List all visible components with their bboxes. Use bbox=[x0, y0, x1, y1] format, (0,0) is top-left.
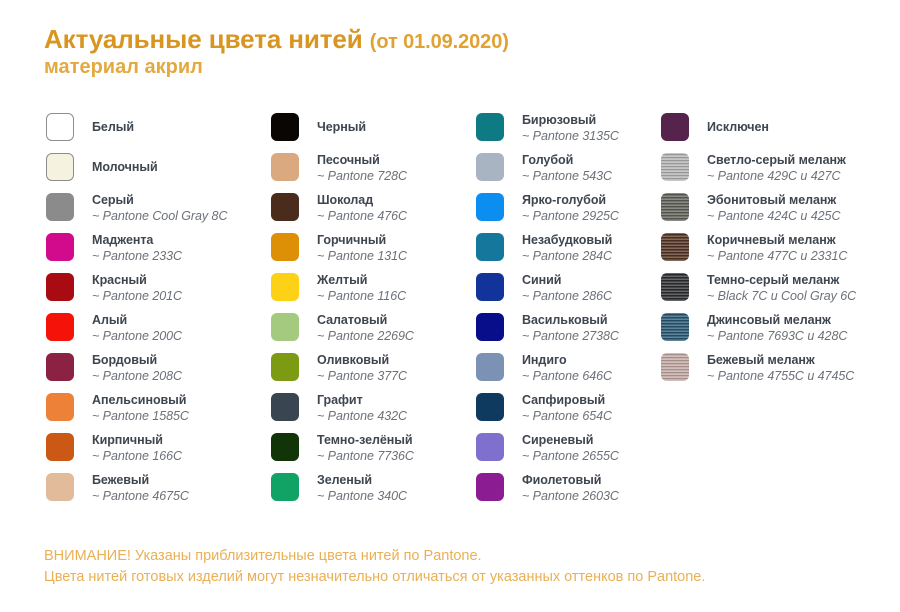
footer-note-line-1: ВНИМАНИЕ! Указаны приблизительные цвета … bbox=[44, 546, 864, 567]
color-row[interactable]: Ярко-голубой~ Pantone 2925C bbox=[476, 192, 656, 232]
color-labels: Бежевый меланж~ Pantone 4755C и 4745C bbox=[707, 352, 854, 384]
page-subtitle: материал акрил bbox=[44, 57, 864, 78]
color-swatch[interactable] bbox=[271, 153, 299, 181]
color-row[interactable]: Черный bbox=[271, 112, 471, 152]
color-name: Красный bbox=[92, 272, 182, 288]
color-swatch[interactable] bbox=[476, 233, 504, 261]
color-name: Исключен bbox=[707, 119, 769, 135]
color-name: Салатовый bbox=[317, 312, 414, 328]
color-row[interactable]: Светло-серый меланж~ Pantone 429C и 427C bbox=[661, 152, 896, 192]
color-labels: Фиолетовый~ Pantone 2603C bbox=[522, 472, 619, 504]
color-pantone-code: ~ Pantone 429C и 427C bbox=[707, 168, 846, 184]
color-name: Незабудковый bbox=[522, 232, 612, 248]
color-labels: Апельсиновый~ Pantone 1585C bbox=[92, 392, 189, 424]
color-name: Коричневый меланж bbox=[707, 232, 847, 248]
color-pantone-code: ~ Pantone 201C bbox=[92, 288, 182, 304]
color-row[interactable]: Графит~ Pantone 432C bbox=[271, 392, 471, 432]
color-swatch[interactable] bbox=[271, 433, 299, 461]
color-pantone-code: ~ Pantone 477C и 2331C bbox=[707, 248, 847, 264]
color-labels: Шоколад~ Pantone 476C bbox=[317, 192, 407, 224]
footer-note: ВНИМАНИЕ! Указаны приблизительные цвета … bbox=[44, 546, 864, 588]
color-row[interactable]: Оливковый~ Pantone 377C bbox=[271, 352, 471, 392]
color-row[interactable]: Фиолетовый~ Pantone 2603C bbox=[476, 472, 656, 512]
color-name: Эбонитовый меланж bbox=[707, 192, 840, 208]
color-name: Зеленый bbox=[317, 472, 407, 488]
color-labels: Графит~ Pantone 432C bbox=[317, 392, 407, 424]
color-row[interactable]: Незабудковый~ Pantone 284C bbox=[476, 232, 656, 272]
color-row[interactable]: Голубой~ Pantone 543C bbox=[476, 152, 656, 192]
color-swatch[interactable] bbox=[46, 153, 74, 181]
color-name: Бежевый bbox=[92, 472, 189, 488]
color-name: Темно-зелёный bbox=[317, 432, 414, 448]
color-swatch[interactable] bbox=[476, 473, 504, 501]
color-labels: Индиго~ Pantone 646C bbox=[522, 352, 612, 384]
color-labels: Эбонитовый меланж~ Pantone 424C и 425C bbox=[707, 192, 840, 224]
color-labels: Синий~ Pantone 286C bbox=[522, 272, 612, 304]
page-title-text: Актуальные цвета нитей bbox=[44, 24, 363, 54]
color-swatch[interactable] bbox=[661, 233, 689, 261]
color-labels: Васильковый~ Pantone 2738C bbox=[522, 312, 619, 344]
color-row[interactable]: Исключен bbox=[661, 112, 896, 152]
color-row[interactable]: Индиго~ Pantone 646C bbox=[476, 352, 656, 392]
color-pantone-code: ~ Pantone 2738C bbox=[522, 328, 619, 344]
color-name: Ярко-голубой bbox=[522, 192, 619, 208]
color-name: Алый bbox=[92, 312, 182, 328]
color-swatch[interactable] bbox=[46, 233, 74, 261]
color-pantone-code: ~ Pantone 654C bbox=[522, 408, 612, 424]
color-name: Желтый bbox=[317, 272, 406, 288]
color-row[interactable]: Сиреневый~ Pantone 2655C bbox=[476, 432, 656, 472]
color-name: Черный bbox=[317, 119, 366, 135]
color-labels: Бежевый~ Pantone 4675C bbox=[92, 472, 189, 504]
color-pantone-code: ~ Pantone 2655C bbox=[522, 448, 619, 464]
color-pantone-code: ~ Pantone 284C bbox=[522, 248, 612, 264]
color-row[interactable]: Бордовый~ Pantone 208C bbox=[46, 352, 261, 392]
color-row[interactable]: Маджента~ Pantone 233C bbox=[46, 232, 261, 272]
page-title: Актуальные цвета нитей (от 01.09.2020) bbox=[44, 26, 864, 54]
color-name: Голубой bbox=[522, 152, 612, 168]
color-swatch[interactable] bbox=[476, 113, 504, 141]
color-name: Сапфировый bbox=[522, 392, 612, 408]
color-row[interactable]: Коричневый меланж~ Pantone 477C и 2331C bbox=[661, 232, 896, 272]
color-pantone-code: ~ Pantone 476C bbox=[317, 208, 407, 224]
color-labels: Джинсовый меланж~ Pantone 7693C и 428C bbox=[707, 312, 847, 344]
color-labels: Оливковый~ Pantone 377C bbox=[317, 352, 407, 384]
color-labels: Сапфировый~ Pantone 654C bbox=[522, 392, 612, 424]
color-swatch[interactable] bbox=[46, 193, 74, 221]
color-pantone-code: ~ Pantone 166C bbox=[92, 448, 182, 464]
color-pantone-code: ~ Pantone 7693C и 428C bbox=[707, 328, 847, 344]
color-swatch[interactable] bbox=[46, 313, 74, 341]
color-name: Кирпичный bbox=[92, 432, 182, 448]
color-swatch[interactable] bbox=[271, 273, 299, 301]
color-pantone-code: ~ Pantone 2925C bbox=[522, 208, 619, 224]
color-pantone-code: ~ Pantone 208C bbox=[92, 368, 182, 384]
color-swatch[interactable] bbox=[476, 353, 504, 381]
color-labels: Белый bbox=[92, 119, 134, 135]
color-pantone-code: ~ Pantone 424C и 425C bbox=[707, 208, 840, 224]
color-swatch[interactable] bbox=[271, 313, 299, 341]
color-labels: Голубой~ Pantone 543C bbox=[522, 152, 612, 184]
color-name: Горчичный bbox=[317, 232, 407, 248]
color-pantone-code: ~ Pantone 200C bbox=[92, 328, 182, 344]
color-labels: Маджента~ Pantone 233C bbox=[92, 232, 182, 264]
color-labels: Темно-зелёный~ Pantone 7736C bbox=[317, 432, 414, 464]
color-labels: Темно-серый меланж~ Black 7C и Cool Gray… bbox=[707, 272, 856, 304]
color-row[interactable]: Салатовый~ Pantone 2269C bbox=[271, 312, 471, 352]
color-pantone-code: ~ Pantone 543C bbox=[522, 168, 612, 184]
color-pantone-code: ~ Pantone 340C bbox=[317, 488, 407, 504]
color-row[interactable]: Алый~ Pantone 200C bbox=[46, 312, 261, 352]
color-swatch[interactable] bbox=[271, 233, 299, 261]
color-name: Бирюзовый bbox=[522, 112, 619, 128]
color-name: Бордовый bbox=[92, 352, 182, 368]
color-row[interactable]: Зеленый~ Pantone 340C bbox=[271, 472, 471, 512]
color-column-3: Бирюзовый~ Pantone 3135CГолубой~ Pantone… bbox=[476, 112, 656, 512]
color-swatch[interactable] bbox=[476, 153, 504, 181]
color-name: Белый bbox=[92, 119, 134, 135]
color-row[interactable]: Апельсиновый~ Pantone 1585C bbox=[46, 392, 261, 432]
color-name: Синий bbox=[522, 272, 612, 288]
color-pantone-code: ~ Pantone Cool Gray 8C bbox=[92, 208, 227, 224]
color-name: Джинсовый меланж bbox=[707, 312, 847, 328]
color-pantone-code: ~ Pantone 4755C и 4745C bbox=[707, 368, 854, 384]
color-labels: Песочный~ Pantone 728C bbox=[317, 152, 407, 184]
color-row[interactable]: Эбонитовый меланж~ Pantone 424C и 425C bbox=[661, 192, 896, 232]
color-pantone-code: ~ Pantone 728C bbox=[317, 168, 407, 184]
color-pantone-code: ~ Pantone 233C bbox=[92, 248, 182, 264]
color-columns: БелыйМолочныйСерый~ Pantone Cool Gray 8C… bbox=[0, 112, 900, 527]
color-row[interactable]: Кирпичный~ Pantone 166C bbox=[46, 432, 261, 472]
color-swatch[interactable] bbox=[271, 193, 299, 221]
color-swatch[interactable] bbox=[661, 353, 689, 381]
color-swatch[interactable] bbox=[271, 113, 299, 141]
color-row[interactable]: Красный~ Pantone 201C bbox=[46, 272, 261, 312]
color-labels: Горчичный~ Pantone 131C bbox=[317, 232, 407, 264]
color-row[interactable]: Синий~ Pantone 286C bbox=[476, 272, 656, 312]
color-row[interactable]: Темно-серый меланж~ Black 7C и Cool Gray… bbox=[661, 272, 896, 312]
color-labels: Светло-серый меланж~ Pantone 429C и 427C bbox=[707, 152, 846, 184]
color-swatch[interactable] bbox=[661, 273, 689, 301]
color-row[interactable]: Джинсовый меланж~ Pantone 7693C и 428C bbox=[661, 312, 896, 352]
color-row[interactable]: Васильковый~ Pantone 2738C bbox=[476, 312, 656, 352]
color-labels: Серый~ Pantone Cool Gray 8C bbox=[92, 192, 227, 224]
color-pantone-code: ~ Pantone 432C bbox=[317, 408, 407, 424]
color-labels: Незабудковый~ Pantone 284C bbox=[522, 232, 612, 264]
color-row[interactable]: Сапфировый~ Pantone 654C bbox=[476, 392, 656, 432]
footer-note-line-2: Цвета нитей готовых изделий могут незнач… bbox=[44, 567, 864, 588]
color-row[interactable]: Бежевый~ Pantone 4675C bbox=[46, 472, 261, 512]
color-swatch[interactable] bbox=[46, 273, 74, 301]
color-swatch[interactable] bbox=[271, 353, 299, 381]
color-name: Шоколад bbox=[317, 192, 407, 208]
color-pantone-code: ~ Pantone 3135C bbox=[522, 128, 619, 144]
color-name: Бежевый меланж bbox=[707, 352, 854, 368]
color-name: Индиго bbox=[522, 352, 612, 368]
color-row[interactable]: Горчичный~ Pantone 131C bbox=[271, 232, 471, 272]
color-swatch[interactable] bbox=[661, 153, 689, 181]
color-name: Светло-серый меланж bbox=[707, 152, 846, 168]
color-pantone-code: ~ Pantone 7736C bbox=[317, 448, 414, 464]
color-swatch[interactable] bbox=[476, 273, 504, 301]
color-row[interactable]: Песочный~ Pantone 728C bbox=[271, 152, 471, 192]
color-name: Песочный bbox=[317, 152, 407, 168]
color-name: Сиреневый bbox=[522, 432, 619, 448]
color-labels: Салатовый~ Pantone 2269C bbox=[317, 312, 414, 344]
color-name: Маджента bbox=[92, 232, 182, 248]
color-name: Темно-серый меланж bbox=[707, 272, 856, 288]
color-column-1: БелыйМолочныйСерый~ Pantone Cool Gray 8C… bbox=[46, 112, 261, 512]
color-name: Фиолетовый bbox=[522, 472, 619, 488]
color-swatch[interactable] bbox=[476, 433, 504, 461]
color-labels: Коричневый меланж~ Pantone 477C и 2331C bbox=[707, 232, 847, 264]
color-pantone-code: ~ Pantone 646C bbox=[522, 368, 612, 384]
color-swatch[interactable] bbox=[661, 313, 689, 341]
color-pantone-code: ~ Pantone 116C bbox=[317, 288, 406, 304]
color-name: Серый bbox=[92, 192, 227, 208]
page-header: Актуальные цвета нитей (от 01.09.2020) м… bbox=[44, 26, 864, 78]
color-row[interactable]: Желтый~ Pantone 116C bbox=[271, 272, 471, 312]
color-labels: Алый~ Pantone 200C bbox=[92, 312, 182, 344]
color-labels: Красный~ Pantone 201C bbox=[92, 272, 182, 304]
color-pantone-code: ~ Pantone 2603C bbox=[522, 488, 619, 504]
color-row[interactable]: Белый bbox=[46, 112, 261, 152]
color-swatch[interactable] bbox=[476, 313, 504, 341]
color-pantone-code: ~ Pantone 2269C bbox=[317, 328, 414, 344]
color-row[interactable]: Молочный bbox=[46, 152, 261, 192]
color-pantone-code: ~ Pantone 1585C bbox=[92, 408, 189, 424]
color-swatch[interactable] bbox=[46, 353, 74, 381]
color-row[interactable]: Темно-зелёный~ Pantone 7736C bbox=[271, 432, 471, 472]
color-labels: Сиреневый~ Pantone 2655C bbox=[522, 432, 619, 464]
color-labels: Молочный bbox=[92, 159, 158, 175]
color-swatch[interactable] bbox=[271, 473, 299, 501]
color-column-4: ИсключенСветло-серый меланж~ Pantone 429… bbox=[661, 112, 896, 392]
color-labels: Ярко-голубой~ Pantone 2925C bbox=[522, 192, 619, 224]
color-name: Оливковый bbox=[317, 352, 407, 368]
color-swatch[interactable] bbox=[46, 113, 74, 141]
color-row[interactable]: Серый~ Pantone Cool Gray 8C bbox=[46, 192, 261, 232]
color-pantone-code: ~ Pantone 377C bbox=[317, 368, 407, 384]
color-row[interactable]: Шоколад~ Pantone 476C bbox=[271, 192, 471, 232]
color-name: Васильковый bbox=[522, 312, 619, 328]
color-swatch[interactable] bbox=[661, 113, 689, 141]
page-title-date: (от 01.09.2020) bbox=[370, 31, 509, 53]
color-swatch[interactable] bbox=[476, 193, 504, 221]
color-labels: Зеленый~ Pantone 340C bbox=[317, 472, 407, 504]
color-name: Графит bbox=[317, 392, 407, 408]
color-name: Молочный bbox=[92, 159, 158, 175]
color-labels: Бордовый~ Pantone 208C bbox=[92, 352, 182, 384]
color-swatch[interactable] bbox=[271, 393, 299, 421]
color-labels: Кирпичный~ Pantone 166C bbox=[92, 432, 182, 464]
color-swatch[interactable] bbox=[476, 393, 504, 421]
color-row[interactable]: Бирюзовый~ Pantone 3135C bbox=[476, 112, 656, 152]
color-pantone-code: ~ Pantone 4675C bbox=[92, 488, 189, 504]
color-column-2: ЧерныйПесочный~ Pantone 728CШоколад~ Pan… bbox=[271, 112, 471, 512]
color-pantone-code: ~ Pantone 131C bbox=[317, 248, 407, 264]
color-pantone-code: ~ Pantone 286C bbox=[522, 288, 612, 304]
color-labels: Черный bbox=[317, 119, 366, 135]
color-swatch[interactable] bbox=[46, 473, 74, 501]
color-swatch[interactable] bbox=[661, 193, 689, 221]
color-labels: Желтый~ Pantone 116C bbox=[317, 272, 406, 304]
color-labels: Исключен bbox=[707, 119, 769, 135]
color-chart-sheet: Актуальные цвета нитей (от 01.09.2020) м… bbox=[0, 0, 900, 612]
color-pantone-code: ~ Black 7C и Cool Gray 6C bbox=[707, 288, 856, 304]
color-name: Апельсиновый bbox=[92, 392, 189, 408]
color-row[interactable]: Бежевый меланж~ Pantone 4755C и 4745C bbox=[661, 352, 896, 392]
color-labels: Бирюзовый~ Pantone 3135C bbox=[522, 112, 619, 144]
color-swatch[interactable] bbox=[46, 393, 74, 421]
color-swatch[interactable] bbox=[46, 433, 74, 461]
